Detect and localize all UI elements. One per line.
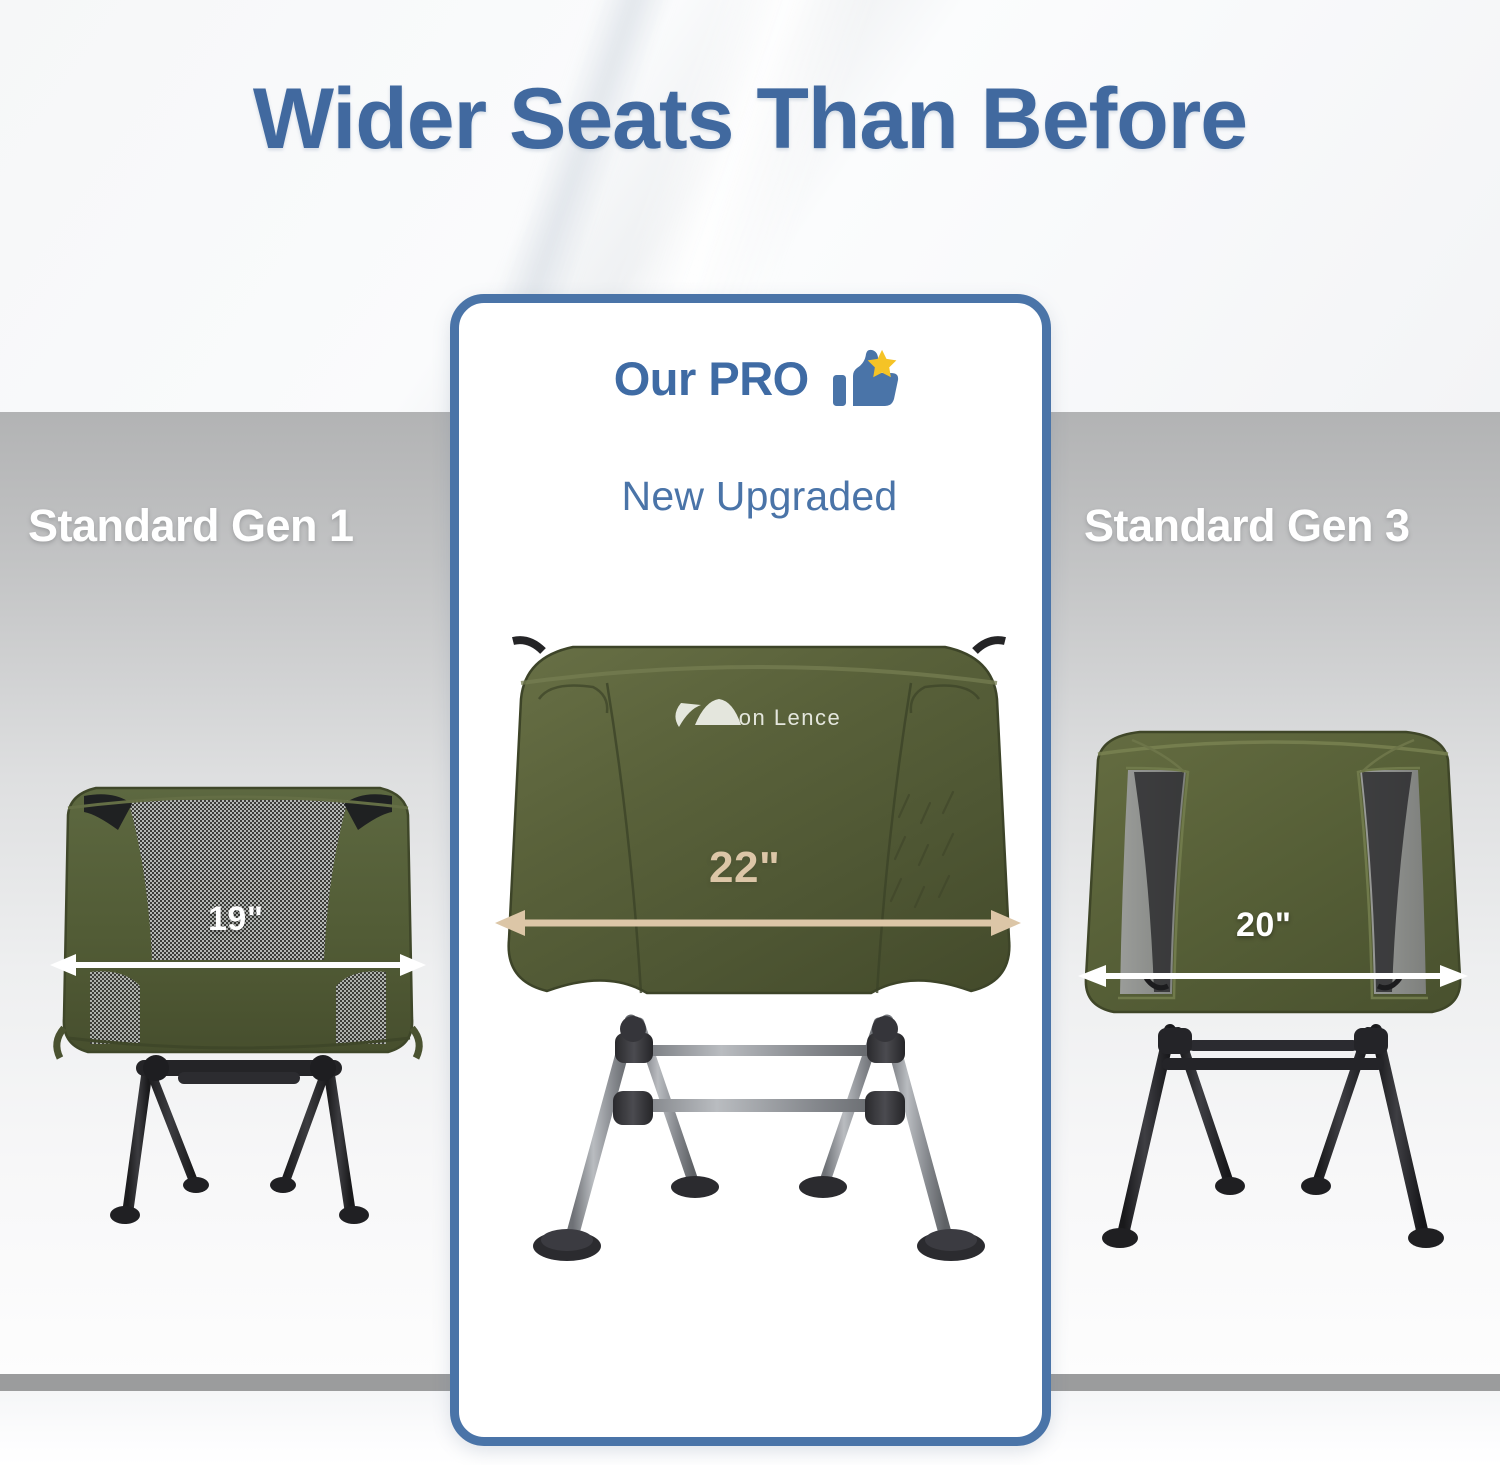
page-title: Wider Seats Than Before <box>0 70 1500 169</box>
svg-text:oon Lence: oon Lence <box>725 705 841 730</box>
dimension-label-gen1: 19" <box>208 900 263 939</box>
label-standard-gen-1: Standard Gen 1 <box>28 500 354 552</box>
panel-title-text: Our PRO <box>614 352 809 405</box>
label-standard-gen-3: Standard Gen 3 <box>1084 500 1410 552</box>
panel-title-row: Our PRO <box>459 347 1060 409</box>
panel-subtitle: New Upgraded <box>459 473 1060 520</box>
infographic-root: Wider Seats Than Before Standard Gen 1 S… <box>0 0 1500 1465</box>
thumbs-up-icon <box>831 349 905 409</box>
dimension-label-gen3: 20" <box>1236 906 1291 945</box>
chair-image-pro: oon Lence 22" <box>481 621 1037 1311</box>
pro-highlight-panel: Our PRO New Upgraded <box>450 294 1051 1446</box>
dimension-label-pro: 22" <box>709 843 780 893</box>
chair-image-gen1: 19" <box>28 760 448 1280</box>
chair-image-gen3: 20" <box>1062 710 1482 1280</box>
